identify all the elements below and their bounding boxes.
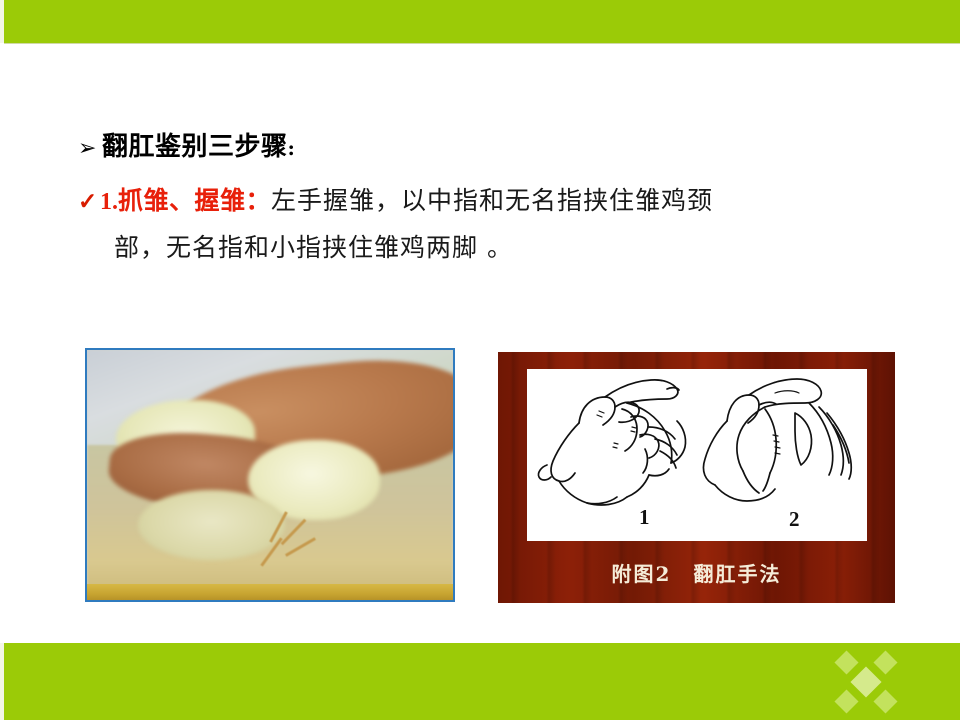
heading-text: 翻肛鉴别三步骤 [102,132,288,162]
diamond-top-left-icon [834,650,858,674]
item-description-line1: 左手握雏，以中指和无名指挟住雏鸡颈 [271,186,713,215]
heading-line: ➢翻肛鉴别三步骤: [78,128,928,168]
figure-label-2: 2 [789,507,800,532]
diamond-bottom-right-icon [873,689,897,713]
figure-caption: 附图2 翻肛手法 [498,558,895,587]
item-term: 抓雏、握雏： [118,186,271,215]
slide-canvas: ➢翻肛鉴别三步骤: ✓1.抓雏、握雏：左手握雏，以中指和无名指挟住雏鸡颈 部，无… [0,0,960,720]
figure-white-panel: 1 2 [527,369,867,541]
figure-label-1: 1 [639,505,650,530]
photo-chick-body-c [138,490,284,560]
item-line-1: ✓1.抓雏、握雏：左手握雏，以中指和无名指挟住雏鸡颈 [78,178,928,225]
diamond-center-icon [850,666,881,697]
diamond-top-right-icon [873,650,897,674]
photo-bottom-strip [87,584,453,600]
arrow-bullet-icon: ➢ [78,130,102,168]
heading-colon: : [288,136,296,160]
top-green-banner [4,0,960,43]
bottom-green-banner [4,643,960,720]
hand-line-drawings [527,369,867,541]
check-bullet-icon: ✓ [78,179,100,225]
slide-text-body: ➢翻肛鉴别三步骤: ✓1.抓雏、握雏：左手握雏，以中指和无名指挟住雏鸡颈 部，无… [78,128,928,271]
anus-eversion-technique-figure: 1 2 附图2 翻肛手法 [498,352,895,603]
diamond-bottom-left-icon [834,689,858,713]
item-line-2: 部，无名指和小指挟住雏鸡两脚 。 [78,225,928,271]
item-number: 1. [100,189,118,215]
diamond-cluster-decoration [836,652,896,712]
chick-holding-photograph [85,348,455,602]
